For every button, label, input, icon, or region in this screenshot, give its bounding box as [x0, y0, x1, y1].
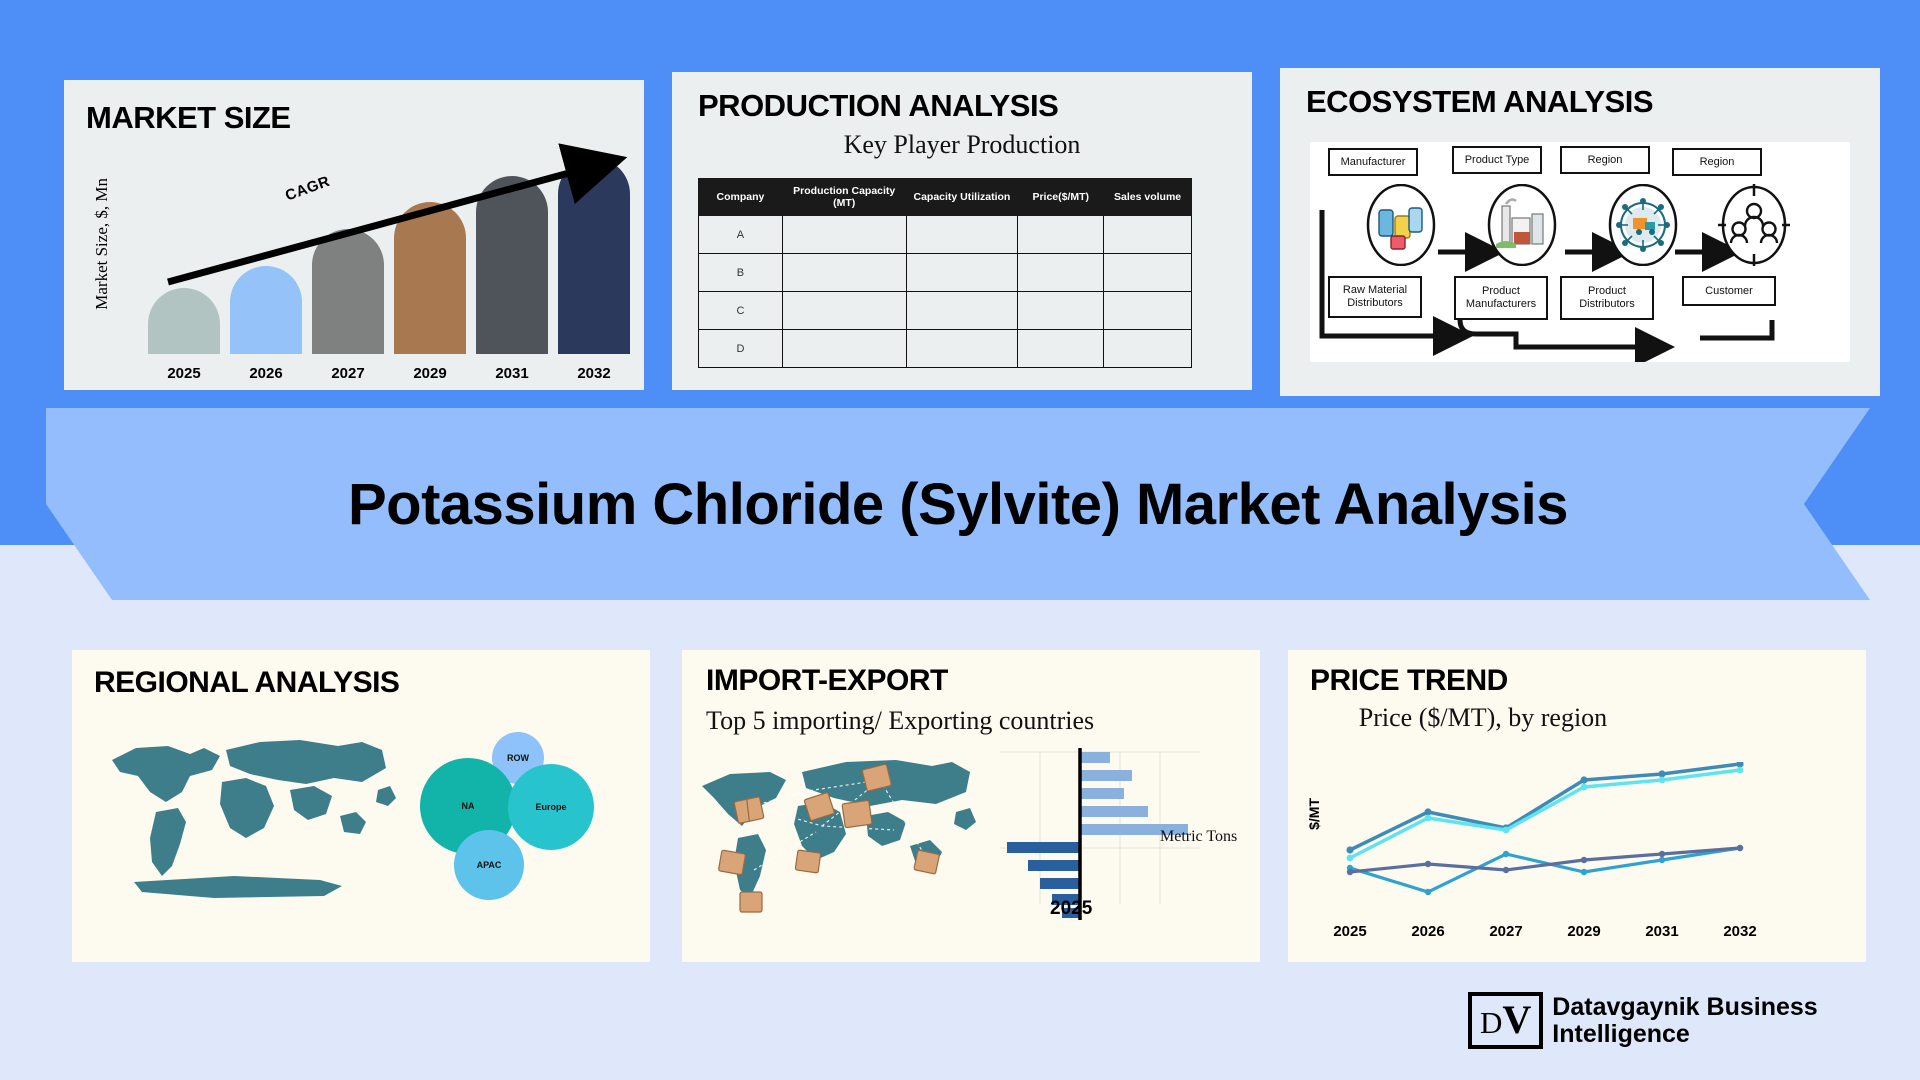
- ecosystem-analysis-title: ECOSYSTEM ANALYSIS: [1306, 84, 1653, 120]
- logo-mark-icon: D V: [1468, 992, 1543, 1049]
- cell-sales: [1104, 216, 1192, 254]
- market-size-x-tick: 2026: [230, 365, 302, 382]
- col-price: Price($/MT): [1018, 179, 1104, 216]
- bubble-apac: APAC: [454, 830, 524, 900]
- cagr-arrow-icon: [64, 80, 644, 390]
- table-row: C: [699, 292, 1192, 330]
- market-size-x-tick: 2032: [558, 365, 630, 382]
- cell-company: C: [699, 292, 783, 330]
- price-trend-x-tick: 2031: [1632, 923, 1692, 940]
- eco-node: [1365, 184, 1437, 271]
- cell-capacity: [782, 330, 906, 368]
- eco-node: [1607, 184, 1679, 271]
- cell-price: [1018, 330, 1104, 368]
- market-size-x-tick: 2031: [476, 365, 548, 382]
- eco-top-box: Manufacturer: [1328, 148, 1418, 176]
- import-export-title: IMPORT-EXPORT: [706, 664, 948, 698]
- cell-capacity: [782, 216, 906, 254]
- ecosystem-diagram: Manufacturer Product Type Region Region: [1310, 142, 1850, 362]
- cell-utilization: [906, 254, 1018, 292]
- eco-node: [1718, 184, 1790, 271]
- cell-price: [1018, 216, 1104, 254]
- cell-company: A: [699, 216, 783, 254]
- cell-utilization: [906, 216, 1018, 254]
- distribution-network-icon: [1607, 184, 1679, 266]
- factory-icon: [1486, 184, 1558, 266]
- company-logo: D V Datavgaynik Business Intelligence: [1468, 992, 1852, 1049]
- price-trend-subtitle: Price ($/MT), by region: [1358, 702, 1608, 733]
- market-size-x-tick: 2029: [394, 365, 466, 382]
- market-size-x-tick: 2025: [148, 365, 220, 382]
- cell-sales: [1104, 330, 1192, 368]
- main-banner: Potassium Chloride (Sylvite) Market Anal…: [46, 408, 1870, 600]
- import-export-card: IMPORT-EXPORT Top 5 importing/ Exporting…: [682, 650, 1260, 962]
- col-company: Company: [699, 179, 783, 216]
- logo-letter-v: V: [1502, 996, 1531, 1043]
- page-title: Potassium Chloride (Sylvite) Market Anal…: [46, 408, 1870, 600]
- logo-company-name: Datavgaynik Business Intelligence: [1552, 994, 1852, 1048]
- price-trend-title: PRICE TREND: [1310, 664, 1508, 698]
- logo-letter-d: D: [1480, 1005, 1502, 1041]
- production-analysis-subtitle: Key Player Production: [672, 130, 1252, 160]
- col-sales-volume: Sales volume: [1104, 179, 1192, 216]
- eco-top-box: Region: [1560, 146, 1650, 174]
- price-trend-x-tick: 2026: [1398, 923, 1458, 940]
- cell-company: B: [699, 254, 783, 292]
- price-trend-y-axis-label: $/MT: [1306, 798, 1322, 830]
- world-map-icon: [94, 720, 414, 920]
- key-player-production-table: Company Production Capacity (MT) Capacit…: [698, 178, 1192, 368]
- regional-analysis-card: REGIONAL ANALYSIS ROW NA Europe APAC: [72, 650, 650, 962]
- eco-bottom-box: Raw Material Distributors: [1328, 276, 1422, 318]
- table-header-row: Company Production Capacity (MT) Capacit…: [699, 179, 1192, 216]
- production-analysis-title: PRODUCTION ANALYSIS: [698, 88, 1058, 124]
- production-analysis-card: PRODUCTION ANALYSIS Key Player Productio…: [672, 72, 1252, 390]
- eco-top-box: Region: [1672, 148, 1762, 176]
- cell-sales: [1104, 254, 1192, 292]
- cell-utilization: [906, 330, 1018, 368]
- market-size-x-tick: 2027: [312, 365, 384, 382]
- trade-routes-map-icon: [694, 750, 984, 940]
- eco-bottom-box: Customer: [1682, 276, 1776, 306]
- eco-bottom-box: Product Distributors: [1560, 276, 1654, 320]
- ecosystem-analysis-card: ECOSYSTEM ANALYSIS Manufacturer Product …: [1280, 68, 1880, 396]
- price-trend-x-tick: 2027: [1476, 923, 1536, 940]
- price-trend-line-chart: [1338, 762, 1758, 910]
- col-production-capacity: Production Capacity (MT): [782, 179, 906, 216]
- market-size-card: MARKET SIZE Market Size, $, Mn CAGR 2025…: [64, 80, 644, 390]
- table-row: D: [699, 330, 1192, 368]
- cell-utilization: [906, 292, 1018, 330]
- table-row: B: [699, 254, 1192, 292]
- import-export-year-label: 2025: [1050, 898, 1092, 920]
- barrels-icon: [1365, 184, 1437, 266]
- market-size-chart: Market Size, $, Mn CAGR 2025 2026 2027 2…: [64, 80, 644, 390]
- metric-tons-axis-label: Metric Tons: [1160, 828, 1237, 846]
- bubble-europe: Europe: [508, 764, 594, 850]
- cell-capacity: [782, 292, 906, 330]
- eco-bottom-box: Product Manufacturers: [1454, 276, 1548, 320]
- eco-top-box: Product Type: [1452, 146, 1542, 174]
- cell-price: [1018, 292, 1104, 330]
- cell-sales: [1104, 292, 1192, 330]
- price-trend-x-tick: 2029: [1554, 923, 1614, 940]
- regional-analysis-title: REGIONAL ANALYSIS: [94, 666, 399, 700]
- table-row: A: [699, 216, 1192, 254]
- price-trend-x-tick: 2032: [1710, 923, 1770, 940]
- import-export-subtitle: Top 5 importing/ Exporting countries: [706, 706, 1094, 736]
- col-capacity-utilization: Capacity Utilization: [906, 179, 1018, 216]
- price-trend-card: PRICE TREND Price ($/MT), by region $/MT: [1288, 650, 1866, 962]
- eco-node: [1486, 184, 1558, 271]
- price-trend-x-tick: 2025: [1320, 923, 1380, 940]
- customers-icon: [1718, 184, 1790, 266]
- cell-price: [1018, 254, 1104, 292]
- cell-company: D: [699, 330, 783, 368]
- cell-capacity: [782, 254, 906, 292]
